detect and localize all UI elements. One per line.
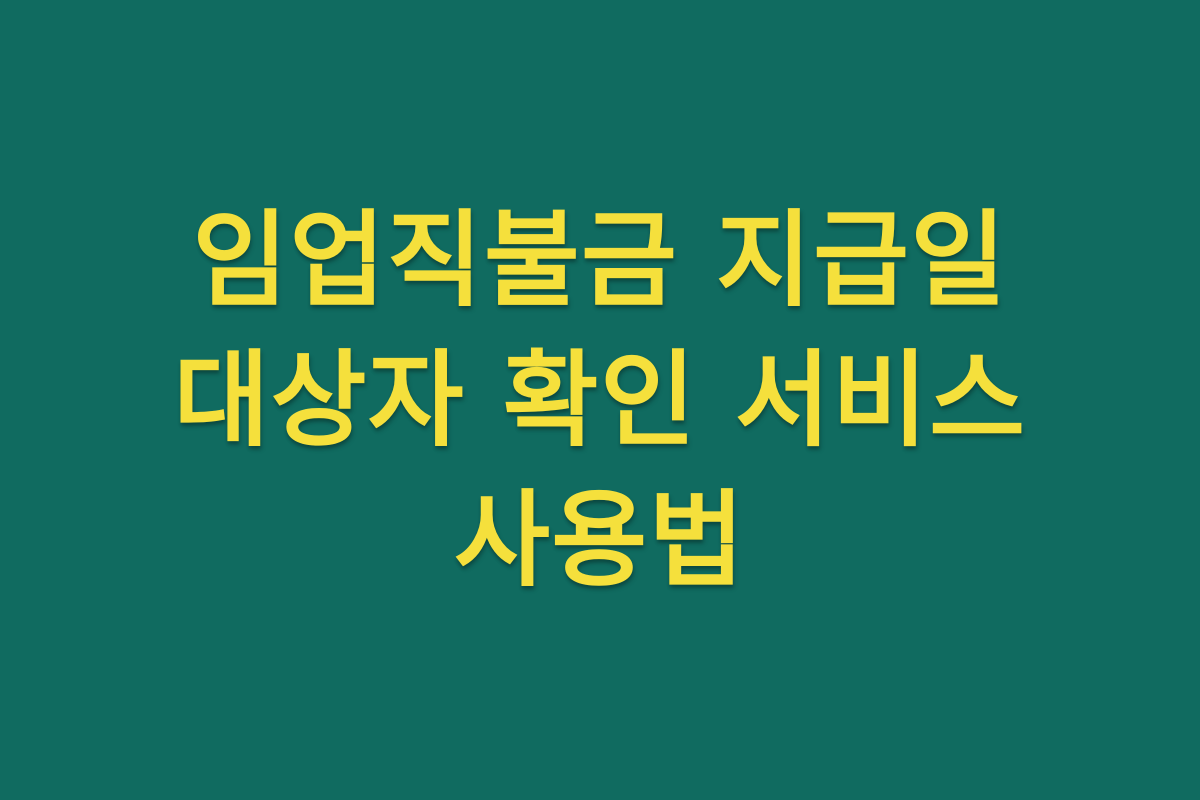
title-block: 임업직불금 지급일 대상자 확인 서비스 사용법 <box>95 190 1105 610</box>
page-title: 임업직불금 지급일 대상자 확인 서비스 사용법 <box>95 190 1105 610</box>
title-banner: 임업직불금 지급일 대상자 확인 서비스 사용법 <box>0 0 1200 800</box>
